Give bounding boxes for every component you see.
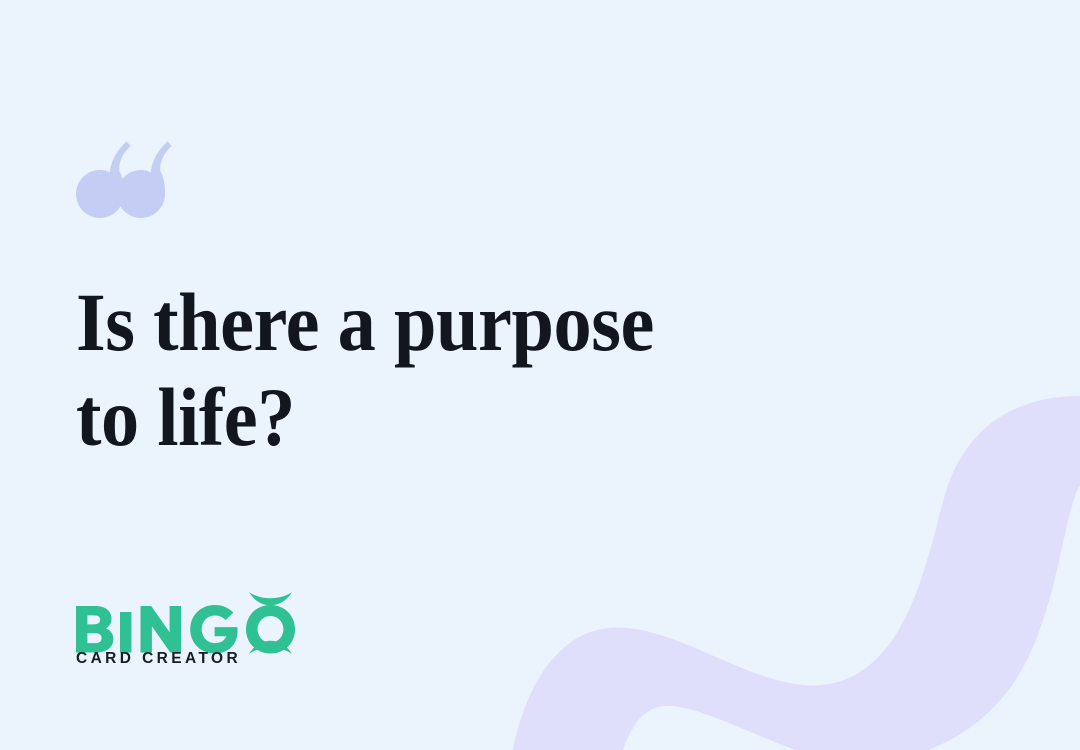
logo-tagline: CARD CREATOR xyxy=(76,650,241,668)
quote-text: Is there a purpose to life? xyxy=(76,275,720,466)
logo-letter-n xyxy=(141,606,182,653)
brand-logo[interactable]: CARD CREATOR xyxy=(74,592,304,682)
logo-letter-g xyxy=(190,605,237,654)
quote-glyph-right xyxy=(117,141,172,218)
bingo-wordmark-icon xyxy=(74,592,300,654)
quote-card: Is there a purpose to life? CARD CREATO xyxy=(0,0,1080,750)
logo-crescent-top-icon xyxy=(249,592,292,605)
logo-letter-i xyxy=(120,612,131,653)
quote-mark-icon xyxy=(76,138,176,218)
logo-letter-b xyxy=(76,606,113,653)
